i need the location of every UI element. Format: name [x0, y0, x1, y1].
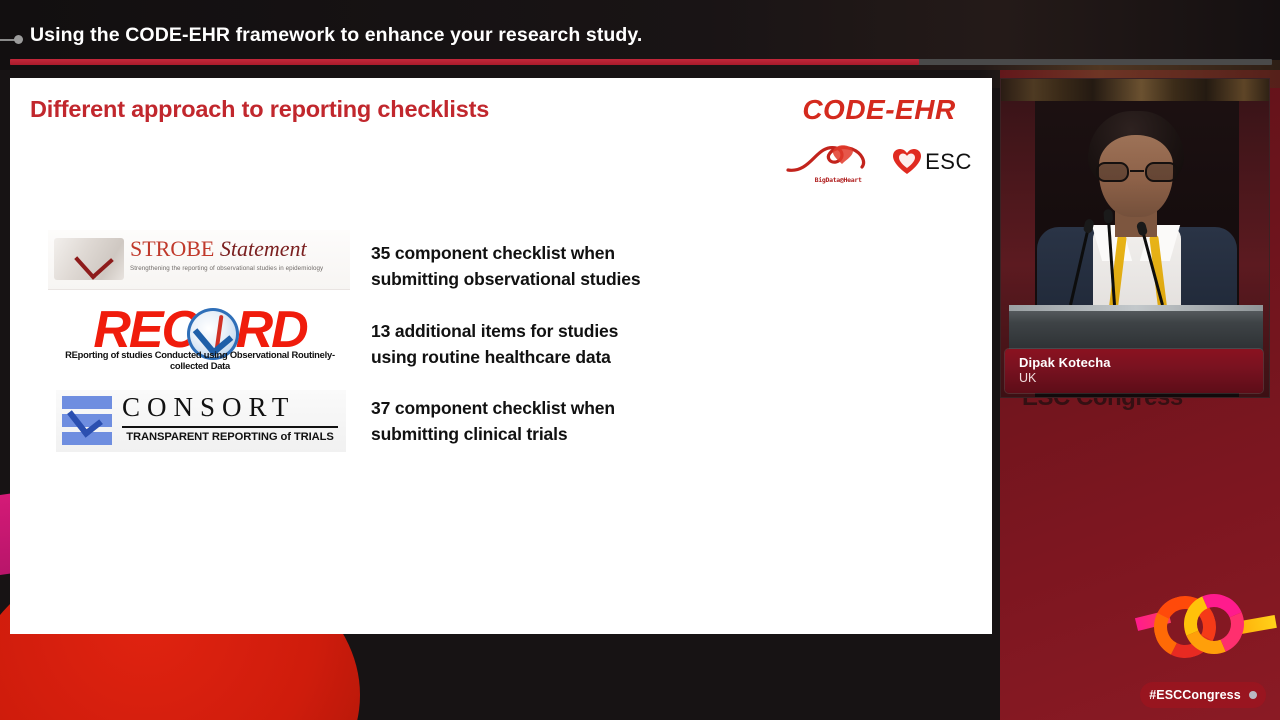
record-logo: RECORD REporting of studies Conducted us… — [56, 304, 344, 372]
bigdata-at-heart-logo: BigData@Heart — [786, 140, 884, 184]
speaker-name-overlay: Dipak Kotecha UK — [1005, 349, 1263, 393]
speaker-name: Dipak Kotecha — [1019, 355, 1111, 370]
code-ehr-brand-block: CODE-EHR BigData@Heart ESC — [784, 94, 974, 190]
bigdata-at-heart-label: BigData@Heart — [792, 176, 884, 184]
slide-canvas: Different approach to reporting checklis… — [10, 78, 992, 634]
checklist-text-record: 13 additional items for studies using ro… — [371, 318, 618, 370]
hashtag-dot-icon — [1249, 691, 1257, 699]
strobe-logo: STROBE Statement Strengthening the repor… — [48, 230, 350, 290]
consort-checkmark-icon — [62, 396, 112, 446]
podium-shelf — [1009, 305, 1263, 311]
checklist-text-consort: 37 component checklist when submitting c… — [371, 395, 615, 447]
strobe-word-primary: STROBE — [130, 236, 214, 261]
bigdata-heart-ribbon-icon — [786, 140, 884, 174]
heart-icon — [892, 148, 922, 176]
esc-knot-logo-icon — [1150, 592, 1260, 690]
hashtag-label: #ESCCongress — [1149, 688, 1241, 702]
consort-wordmark: CONSORT — [122, 392, 295, 423]
strobe-tagline: Strengthening the reporting of observati… — [130, 265, 323, 272]
code-ehr-title: CODE-EHR — [784, 94, 974, 126]
consort-tagline: TRANSPARENT REPORTING of TRIALS — [122, 431, 338, 443]
speaker-video-panel[interactable]: Dipak Kotecha UK — [1000, 78, 1270, 398]
slide-title: Different approach to reporting checklis… — [30, 96, 489, 123]
esc-logo: ESC — [892, 148, 972, 176]
consort-divider — [122, 426, 338, 428]
glasses-icon — [1094, 162, 1180, 182]
progress-dot-icon — [14, 35, 23, 44]
strobe-artwork-icon — [54, 238, 124, 280]
partner-logos: BigData@Heart ESC — [784, 138, 974, 186]
checklist-text-strobe: 35 component checklist when submitting o… — [371, 240, 640, 292]
playback-progress-bar[interactable] — [10, 59, 1272, 65]
speaker-country: UK — [1019, 371, 1036, 385]
hashtag-badge: #ESCCongress — [1140, 682, 1266, 708]
playback-progress-fill — [10, 59, 919, 65]
record-tagline: REporting of studies Conducted using Obs… — [56, 349, 344, 371]
player-header: Using the CODE-EHR framework to enhance … — [0, 0, 1280, 70]
consort-logo: CONSORT TRANSPARENT REPORTING of TRIALS — [56, 390, 346, 452]
video-ceiling-lights — [1001, 79, 1270, 101]
header-marker-line — [0, 39, 15, 41]
presentation-title: Using the CODE-EHR framework to enhance … — [30, 24, 642, 47]
esc-label: ESC — [925, 149, 972, 175]
strobe-word-secondary: Statement — [220, 236, 307, 261]
